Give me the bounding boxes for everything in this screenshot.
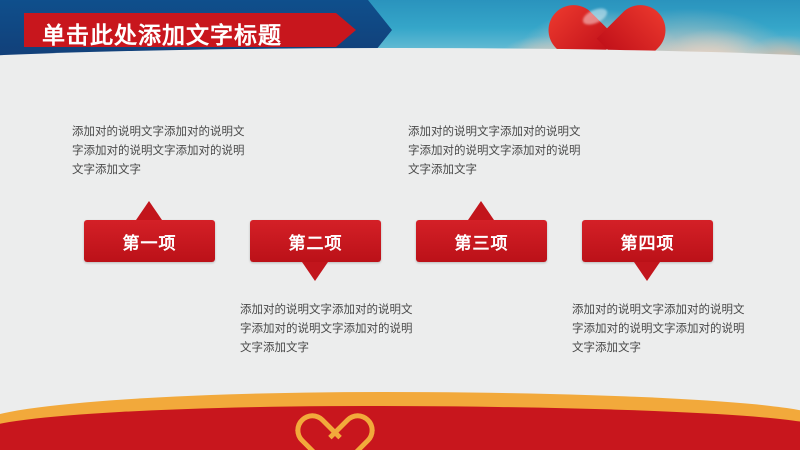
page-title: 单击此处添加文字标题 xyxy=(42,16,282,50)
slide-content: 添加对的说明文字添加对的说明文字添加对的说明文字添加对的说明文字添加文字 添加对… xyxy=(0,62,800,392)
heart-outline-icon xyxy=(300,414,374,450)
item-label-1: 第一项 xyxy=(84,220,215,262)
item-button-2[interactable]: 第二项 xyxy=(250,220,381,262)
item-description-2: 添加对的说明文字添加对的说明文字添加对的说明文字添加对的说明文字添加文字 xyxy=(240,300,415,357)
presentation-slide: 单击此处添加文字标题 添加对的说明文字添加对的说明文字添加对的说明文字添加对的说… xyxy=(0,0,800,450)
pointer-down-icon-4 xyxy=(634,262,660,281)
pointer-up-icon-1 xyxy=(136,201,162,220)
footer-red-wave xyxy=(0,406,800,450)
item-description-1: 添加对的说明文字添加对的说明文字添加对的说明文字添加对的说明文字添加文字 xyxy=(72,122,247,179)
item-button-1[interactable]: 第一项 xyxy=(84,220,215,262)
pointer-up-icon-3 xyxy=(468,201,494,220)
item-button-3[interactable]: 第三项 xyxy=(416,220,547,262)
item-label-3: 第三项 xyxy=(416,220,547,262)
item-description-4: 添加对的说明文字添加对的说明文字添加对的说明文字添加对的说明文字添加文字 xyxy=(572,300,747,357)
slide-footer-decoration xyxy=(0,392,800,450)
item-description-3: 添加对的说明文字添加对的说明文字添加对的说明文字添加对的说明文字添加文字 xyxy=(408,122,583,179)
item-button-4[interactable]: 第四项 xyxy=(582,220,713,262)
item-label-2: 第二项 xyxy=(250,220,381,262)
item-label-4: 第四项 xyxy=(582,220,713,262)
pointer-down-icon-2 xyxy=(302,262,328,281)
